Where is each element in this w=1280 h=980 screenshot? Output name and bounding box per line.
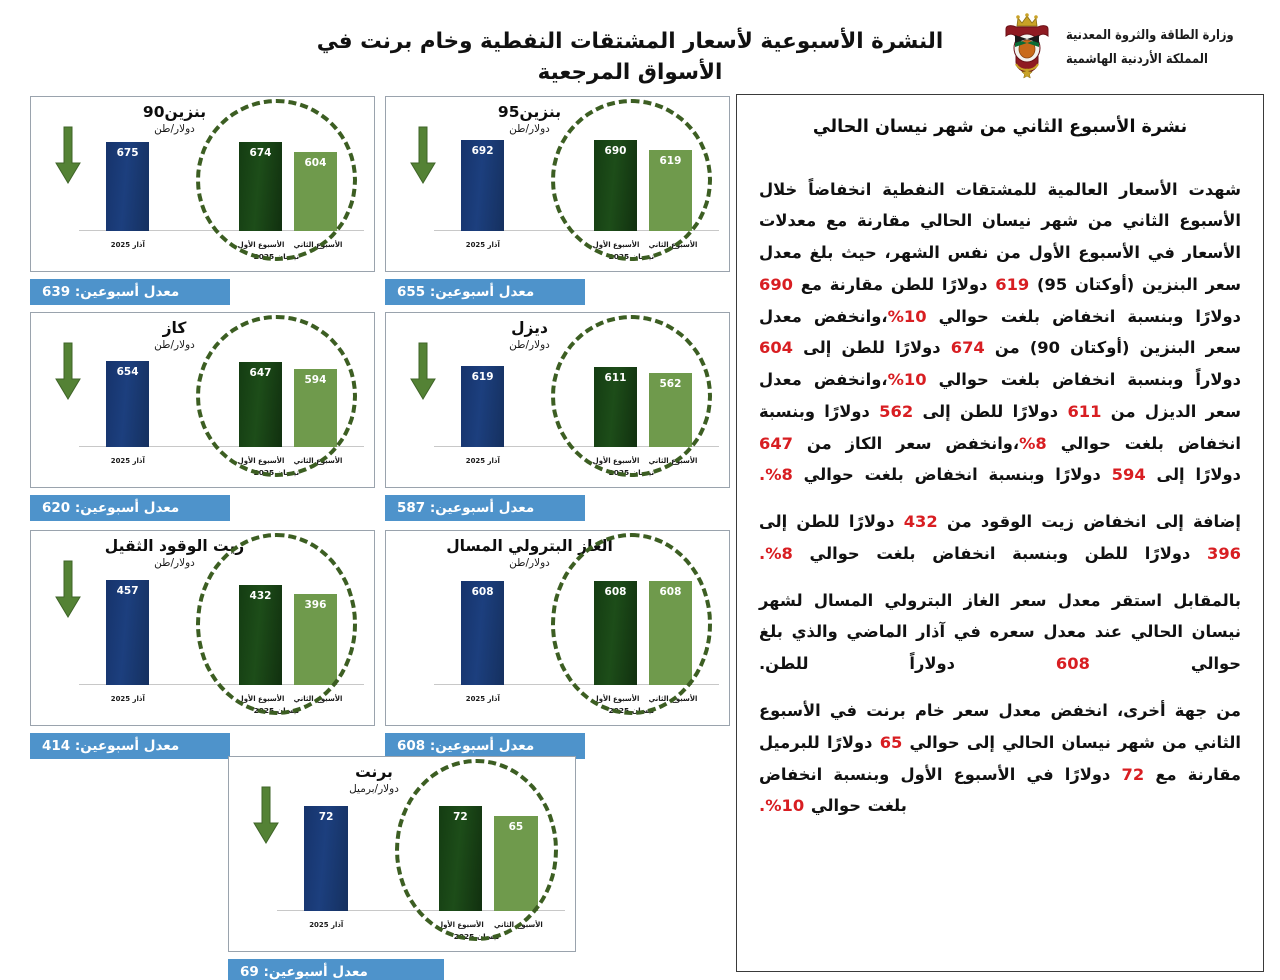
highlighted-value: 10% [765,796,804,815]
highlighted-value: 690 [759,275,793,294]
bar-march-benzene-95: 692 [461,140,504,231]
bars-container: 619611562 [432,347,721,447]
tick-label-week2: الأسبوع الثاني [637,456,710,465]
bars-container: 675674604 [77,131,366,231]
highlighted-value: 10% [888,307,927,326]
report-body: شهدت الأسعار العالمية للمشتقات النفطية ا… [759,174,1241,823]
bar-week1-kerosene: 647 [239,362,282,447]
plot-area-kerosene: 654647594آذار 2025الأسبوع الأولالأسبوع ا… [77,347,366,481]
bar-fill: 608 [594,581,637,685]
bar-fill: 65 [494,816,538,911]
bar-value-label: 647 [239,367,282,379]
bar-value-label: 608 [649,586,692,598]
bar-fill: 72 [439,806,483,911]
bar-fill: 675 [106,142,149,231]
bar-march-kerosene: 654 [106,361,149,447]
bar-fill: 396 [294,594,337,685]
average-banner-heavy-fuel-oil: معدل أسبوعين: 414 [30,733,230,759]
paragraph-text: دولارًا للطن إلى [913,402,1067,421]
bars-container: 654647594 [77,347,366,447]
bars-container: 457432396 [77,565,366,685]
bar-value-label: 674 [239,147,282,159]
highlighted-value: 432 [904,512,938,531]
bar-fill: 562 [649,373,692,447]
highlighted-value: 562 [879,402,913,421]
highlighted-value: 65 [880,733,903,752]
tick-label-week2: الأسبوع الثاني [282,240,355,249]
jordan-coat-of-arms-icon [996,12,1058,82]
bar-value-label: 690 [594,145,637,157]
bars-container: 692690619 [432,131,721,231]
group-label-april: نيسان 2025 [588,468,675,477]
report-paragraph-p1: شهدت الأسعار العالمية للمشتقات النفطية ا… [759,174,1241,492]
group-label-april: نيسان 2025 [588,706,675,715]
chart-card-brent: برنتدولار/برميل727265آذار 2025الأسبوع ال… [228,756,576,980]
highlighted-value: 604 [759,338,793,357]
tick-label-march: آذار 2025 [85,694,169,703]
ministry-name-line1: وزارة الطاقة والثروة المعدنية [1066,26,1234,43]
chart-title-text: الغاز البترولي المسال [386,538,673,555]
chart-card-lpg: الغاز البترولي المسالدولار/طن608608608آذ… [385,530,730,759]
tick-label-week2: الأسبوع الثاني [282,456,355,465]
plot-area-heavy-fuel-oil: 457432396آذار 2025الأسبوع الأولالأسبوع ا… [77,565,366,719]
bar-value-label: 654 [106,366,149,378]
bar-week1-benzene-90: 674 [239,142,282,231]
highlighted-value: 608 [1056,654,1090,673]
chart-panel-diesel: ديزلدولار/طن619611562آذار 2025الأسبوع ال… [385,312,730,488]
tick-label-march: آذار 2025 [440,456,524,465]
bar-value-label: 72 [304,811,348,823]
ministry-logo-text: وزارة الطاقة والثروة المعدنية المملكة ال… [1066,26,1234,67]
group-label-april: نيسان 2025 [433,932,521,941]
paragraph-text: دولارًا للطن إلى [793,338,951,357]
bar-value-label: 562 [649,378,692,390]
bar-fill: 690 [594,140,637,231]
bar-value-label: 692 [461,145,504,157]
report-paragraph-p3: بالمقابل استقر معدل سعر الغاز البترولي ا… [759,585,1241,680]
group-label-april: نيسان 2025 [233,468,320,477]
chart-panel-kerosene: كازدولار/طن654647594آذار 2025الأسبوع الأ… [30,312,375,488]
bar-week2-lpg: 608 [649,581,692,685]
bar-value-label: 72 [439,811,483,823]
paragraph-text: ،وانخفض سعر الكاز من [793,434,1019,453]
chart-title-text: زيت الوقود الثقيل [31,538,318,555]
chart-card-diesel: ديزلدولار/طن619611562آذار 2025الأسبوع ال… [385,312,730,521]
group-label-april: نيسان 2025 [588,252,675,261]
bar-fill: 72 [304,806,348,911]
bar-week1-lpg: 608 [594,581,637,685]
highlighted-value: 594 [1112,465,1146,484]
tick-label-march: آذار 2025 [284,920,369,929]
bar-fill: 647 [239,362,282,447]
paragraph-text: دولاراً وبنسبة انخفاض بلغت حوالي [927,370,1241,389]
average-banner-diesel: معدل أسبوعين: 587 [385,495,585,521]
bar-fill: 594 [294,369,337,447]
bar-week1-heavy-fuel-oil: 432 [239,585,282,685]
bar-march-diesel: 619 [461,366,504,447]
bar-week1-benzene-95: 690 [594,140,637,231]
page-title: النشرة الأسبوعية لأسعار المشتقات النفطية… [290,26,970,88]
bar-value-label: 608 [594,586,637,598]
bar-fill: 608 [461,581,504,685]
paragraph-text: دولارًا للطن وبنسبة انخفاض بلغت حوالي [793,544,1207,563]
bar-fill: 432 [239,585,282,685]
bars-container: 608608608 [432,565,721,685]
bar-week2-heavy-fuel-oil: 396 [294,594,337,685]
tick-label-march: آذار 2025 [440,240,524,249]
plot-area-diesel: 619611562آذار 2025الأسبوع الأولالأسبوع ا… [432,347,721,481]
paragraph-text: دولارًا للطن مقارنة مع [793,275,995,294]
chart-card-benzene-95: بنزين95دولار/طن692690619آذار 2025الأسبوع… [385,96,730,305]
bar-fill: 611 [594,367,637,447]
tick-label-march: آذار 2025 [85,240,169,249]
highlighted-value: 8% [1019,434,1047,453]
chart-card-kerosene: كازدولار/طن654647594آذار 2025الأسبوع الأ… [30,312,375,521]
tick-label-week2: الأسبوع الثاني [637,694,710,703]
bar-value-label: 457 [106,585,149,597]
bar-week2-kerosene: 594 [294,369,337,447]
tick-label-march: آذار 2025 [440,694,524,703]
bar-value-label: 65 [494,821,538,833]
highlighted-value: 396 [1207,544,1241,563]
bar-value-label: 396 [294,599,337,611]
paragraph-text: دولارًا وبنسبة انخفاض بلغت حوالي [793,465,1112,484]
ministry-name-line2: المملكة الأردنية الهاشمية [1066,50,1208,67]
bar-fill: 457 [106,580,149,685]
report-panel: نشرة الأسبوع الثاني من شهر نيسان الحالي … [736,94,1264,972]
report-paragraph-p4: من جهة أخرى، انخفض معدل سعر خام برنت في … [759,695,1241,822]
group-label-april: نيسان 2025 [233,252,320,261]
chart-title-text: بنزين95 [386,104,673,121]
chart-card-benzene-90: بنزين90دولار/طن675674604آذار 2025الأسبوع… [30,96,375,305]
chart-panel-lpg: الغاز البترولي المسالدولار/طن608608608آذ… [385,530,730,726]
bar-fill: 619 [649,150,692,231]
chart-panel-brent: برنتدولار/برميل727265آذار 2025الأسبوع ال… [228,756,576,952]
plot-area-benzene-95: 692690619آذار 2025الأسبوع الأولالأسبوع ا… [432,131,721,265]
tick-label-week2: الأسبوع الثاني [482,920,556,929]
bulletin-page: النشرة الأسبوعية لأسعار المشتقات النفطية… [0,0,1280,980]
bar-week2-benzene-95: 619 [649,150,692,231]
plot-area-lpg: 608608608آذار 2025الأسبوع الأولالأسبوع ا… [432,565,721,719]
highlighted-value: 10% [888,370,927,389]
bar-march-brent: 72 [304,806,348,911]
highlighted-value: 674 [951,338,985,357]
chart-title-text: ديزل [386,320,673,337]
ministry-logo: وزارة الطاقة والثروة المعدنية المملكة ال… [996,10,1268,84]
paragraph-text: دولارًا وبنسبة انخفاض بلغت حوالي [927,307,1241,326]
paragraph-text: دولاراً للطن. [759,654,1056,673]
bar-week2-diesel: 562 [649,373,692,447]
bar-value-label: 432 [239,590,282,602]
chart-card-heavy-fuel-oil: زيت الوقود الثقيلدولار/طن457432396آذار 2… [30,530,375,759]
highlighted-value: 611 [1067,402,1101,421]
bar-week2-benzene-90: 604 [294,152,337,231]
bar-value-label: 619 [649,155,692,167]
bar-march-lpg: 608 [461,581,504,685]
bar-value-label: 675 [106,147,149,159]
plot-area-brent: 727265آذار 2025الأسبوع الأولالأسبوع الثا… [275,791,567,945]
report-paragraph-p2: إضافة إلى انخفاض زيت الوقود من 432 دولار… [759,506,1241,570]
bar-value-label: 594 [294,374,337,386]
bar-week2-brent: 65 [494,816,538,911]
average-banner-benzene-90: معدل أسبوعين: 639 [30,279,230,305]
bar-fill: 674 [239,142,282,231]
average-banner-kerosene: معدل أسبوعين: 620 [30,495,230,521]
bar-fill: 692 [461,140,504,231]
bar-value-label: 604 [294,157,337,169]
bar-value-label: 611 [594,372,637,384]
plot-area-benzene-90: 675674604آذار 2025الأسبوع الأولالأسبوع ا… [77,131,366,265]
tick-label-week2: الأسبوع الثاني [282,694,355,703]
bar-fill: 619 [461,366,504,447]
chart-title-text: برنت [229,764,519,781]
highlighted-value: 8% [765,544,793,563]
average-banner-benzene-95: معدل أسبوعين: 655 [385,279,585,305]
paragraph-text: دولارًا في الأسبوع الأول وبنسبة انخفاض ب… [759,765,1122,816]
tick-label-march: آذار 2025 [85,456,169,465]
chart-panel-heavy-fuel-oil: زيت الوقود الثقيلدولار/طن457432396آذار 2… [30,530,375,726]
highlighted-value: 647 [759,434,793,453]
highlighted-value: 619 [995,275,1029,294]
average-banner-brent: معدل أسبوعين: 69 [228,959,444,980]
bar-week1-diesel: 611 [594,367,637,447]
bar-march-benzene-90: 675 [106,142,149,231]
paragraph-text: إضافة إلى انخفاض زيت الوقود من [938,512,1241,531]
tick-label-week2: الأسبوع الثاني [637,240,710,249]
bar-fill: 604 [294,152,337,231]
highlighted-value: 72 [1122,765,1145,784]
chart-title-text: كاز [31,320,318,337]
bar-value-label: 608 [461,586,504,598]
bar-fill: 654 [106,361,149,447]
group-label-april: نيسان 2025 [233,706,320,715]
charts-grid: بنزين90دولار/طن675674604آذار 2025الأسبوع… [30,96,730,972]
chart-panel-benzene-95: بنزين95دولار/طن692690619آذار 2025الأسبوع… [385,96,730,272]
bar-week1-brent: 72 [439,806,483,911]
chart-panel-benzene-90: بنزين90دولار/طن675674604آذار 2025الأسبوع… [30,96,375,272]
bar-fill: 608 [649,581,692,685]
chart-title-text: بنزين90 [31,104,318,121]
bar-value-label: 619 [461,371,504,383]
bar-march-heavy-fuel-oil: 457 [106,580,149,685]
paragraph-text: دولارًا إلى [1146,465,1241,484]
bars-container: 727265 [275,791,567,911]
page-header: النشرة الأسبوعية لأسعار المشتقات النفطية… [0,0,1280,92]
report-heading: نشرة الأسبوع الثاني من شهر نيسان الحالي [759,115,1241,140]
paragraph-text: دولارًا للطن إلى [759,512,904,531]
highlighted-value: 8% [765,465,793,484]
